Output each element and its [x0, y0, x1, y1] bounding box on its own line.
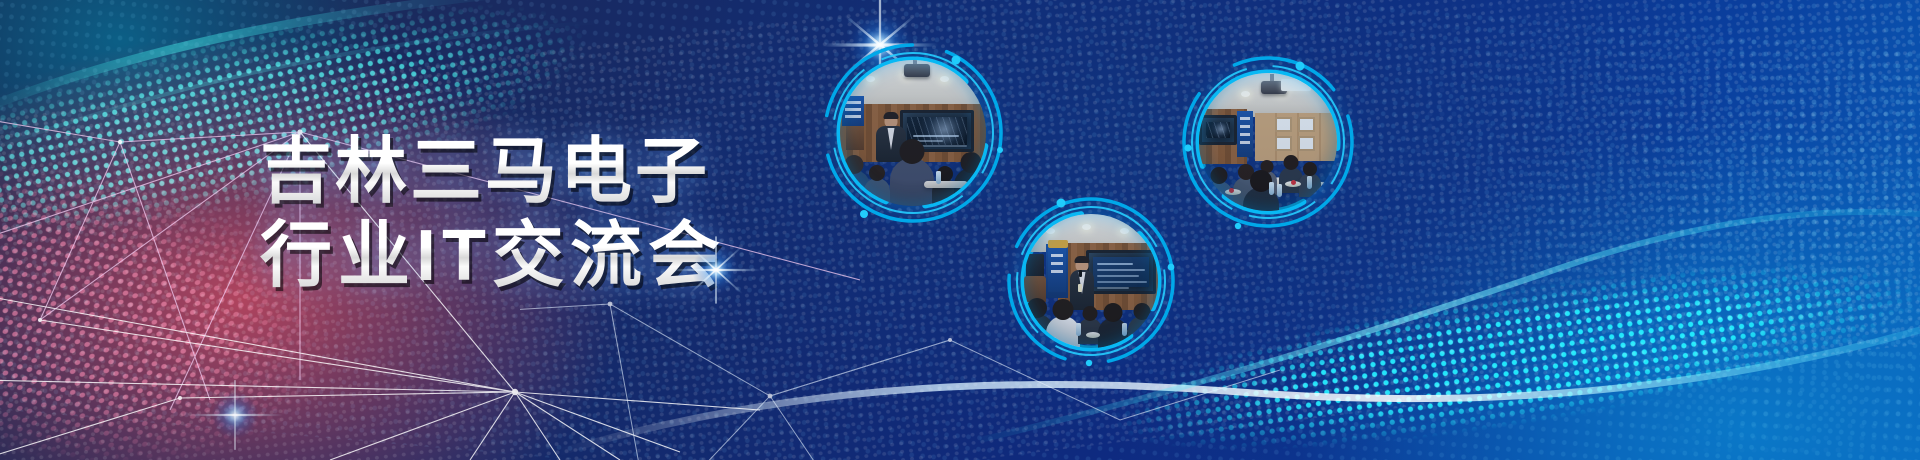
- banner-headline: 吉林三马电子 行业IT交流会: [260, 128, 820, 300]
- scene-conference: [1024, 214, 1158, 348]
- headline-line-2: 行业IT交流会: [260, 212, 820, 300]
- promotional-banner: 吉林三马电子 行业IT交流会: [0, 0, 1920, 460]
- photo-medallion-roundtable[interactable]: [1178, 52, 1358, 232]
- headline-line-1: 吉林三马电子: [260, 128, 820, 216]
- photo-medallion-seminar[interactable]: [818, 38, 1008, 228]
- scene-roundtable: [1199, 73, 1337, 211]
- scene-seminar: [840, 60, 986, 206]
- photo-medallion-conference[interactable]: [1003, 193, 1179, 369]
